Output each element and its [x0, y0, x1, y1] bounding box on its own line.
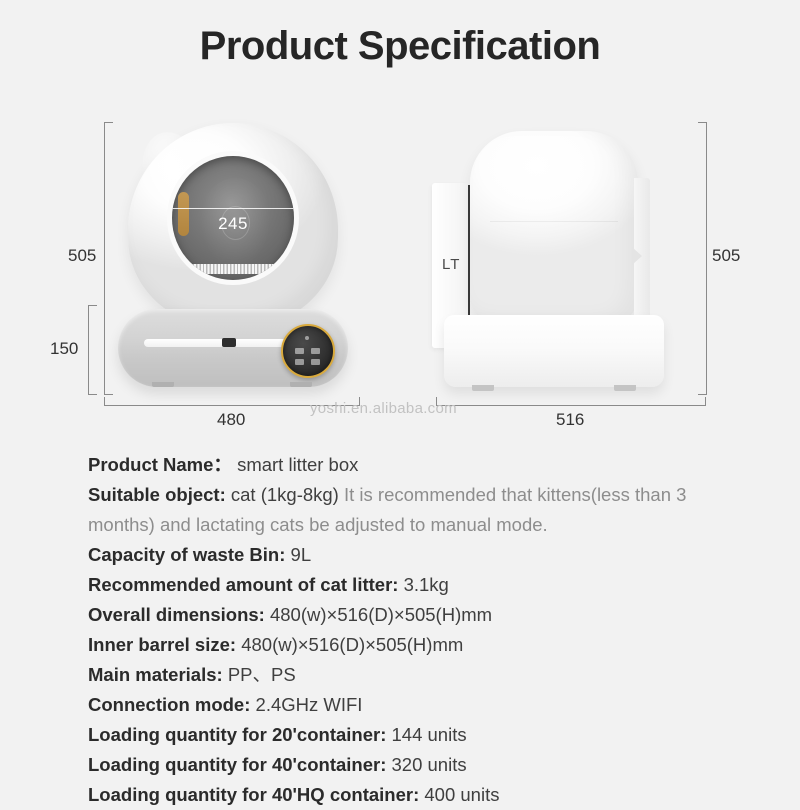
front-foot-left: [152, 382, 174, 387]
spec-value: PP、PS: [228, 664, 296, 685]
spec-row-inner-barrel-size: Inner barrel size: 480(w)×516(D)×505(H)m…: [88, 630, 728, 660]
panel-button-icon-2: [311, 348, 320, 354]
spec-row-waste-bin-capacity: Capacity of waste Bin: 9L: [88, 540, 728, 570]
front-view-illustration: 245: [118, 123, 348, 395]
front-height-dim-line: [104, 122, 105, 395]
side-foot-right: [614, 385, 636, 391]
side-height-tick-bottom: [698, 394, 707, 395]
front-base-tick-bottom: [88, 394, 97, 395]
spec-value: 400 units: [424, 784, 499, 805]
spec-value: 480(w)×516(D)×505(H)mm: [241, 634, 463, 655]
side-height-tick-top: [698, 122, 707, 123]
spec-row-loading-20-container: Loading quantity for 20'container: 144 u…: [88, 720, 728, 750]
spec-value: smart litter box: [237, 454, 358, 475]
spec-value: 480(w)×516(D)×505(H)mm: [270, 604, 492, 625]
spec-row-loading-40-container: Loading quantity for 40'container: 320 u…: [88, 750, 728, 780]
spec-row-connection-mode: Connection mode: 2.4GHz WIFI: [88, 690, 728, 720]
side-base: [444, 315, 664, 387]
front-base: [118, 309, 348, 387]
spec-value: 9L: [291, 544, 312, 565]
front-height-tick-bottom: [104, 394, 113, 395]
inner-measure-line: [172, 208, 294, 209]
litter-box-opening: 245: [172, 156, 294, 280]
panel-button-icon-3: [295, 359, 304, 365]
spec-key: Overall dimensions:: [88, 604, 265, 625]
spec-value: 320 units: [392, 754, 467, 775]
comb-strip: [177, 264, 289, 274]
spec-key: Loading quantity for 20'container:: [88, 724, 386, 745]
front-width-tick-left: [104, 397, 105, 406]
spec-value: 144 units: [392, 724, 467, 745]
spec-row-main-materials: Main materials: PP、PS: [88, 660, 728, 690]
front-width-label: 480: [217, 410, 245, 430]
spec-key: Main materials:: [88, 664, 223, 685]
spec-key: Suitable object:: [88, 484, 226, 505]
sensor-icon: [222, 338, 236, 347]
spec-key: Inner barrel size:: [88, 634, 236, 655]
spec-value: cat (1kg-8kg): [231, 484, 339, 505]
front-base-tick-top: [88, 305, 97, 306]
side-body-mark: LT: [442, 256, 460, 273]
spec-key: Connection mode:: [88, 694, 250, 715]
side-depth-label: 516: [556, 410, 584, 430]
spec-row-suitable-object: Suitable object: cat (1kg-8kg) It is rec…: [88, 480, 728, 540]
side-depth-tick-right: [705, 397, 706, 406]
spec-key: Loading quantity for 40'HQ container:: [88, 784, 419, 805]
spec-key: Loading quantity for 40'container:: [88, 754, 386, 775]
spec-value: 2.4GHz WIFI: [256, 694, 363, 715]
inner-dimension-label: 245: [172, 214, 294, 234]
product-diagram: 505 150 480 245: [0, 105, 800, 435]
front-height-tick-top: [104, 122, 113, 123]
side-right-tip: [632, 247, 642, 265]
page-title: Product Specification: [0, 24, 800, 69]
spec-list: Product Name： smart litter box Suitable …: [88, 450, 728, 810]
spec-key: Capacity of waste Bin:: [88, 544, 285, 565]
panel-indicator-icon: [305, 336, 309, 340]
control-panel[interactable]: [281, 324, 335, 378]
front-foot-right: [290, 382, 312, 387]
front-height-label: 505: [68, 246, 96, 266]
side-height-label: 505: [712, 246, 740, 266]
side-dome: [470, 131, 638, 326]
watermark: yoshi.en.alibaba.com: [310, 400, 457, 417]
spec-row-loading-40hq-container: Loading quantity for 40'HQ container: 40…: [88, 780, 728, 810]
side-foot-left: [472, 385, 494, 391]
side-height-dim-line: [706, 122, 707, 395]
spec-key: Recommended amount of cat litter:: [88, 574, 398, 595]
spec-row-product-name: Product Name： smart litter box: [88, 450, 728, 480]
spec-value: 3.1kg: [404, 574, 449, 595]
spec-key: Product Name：: [88, 454, 232, 475]
side-view-illustration: LT: [432, 123, 680, 395]
panel-button-icon-1: [295, 348, 304, 354]
side-depth-dim-line: [436, 405, 706, 406]
spec-row-overall-dimensions: Overall dimensions: 480(w)×516(D)×505(H)…: [88, 600, 728, 630]
panel-button-icon-4: [311, 359, 320, 365]
front-base-height-dim-line: [88, 305, 89, 395]
spec-row-recommended-litter: Recommended amount of cat litter: 3.1kg: [88, 570, 728, 600]
front-base-height-label: 150: [50, 339, 78, 359]
